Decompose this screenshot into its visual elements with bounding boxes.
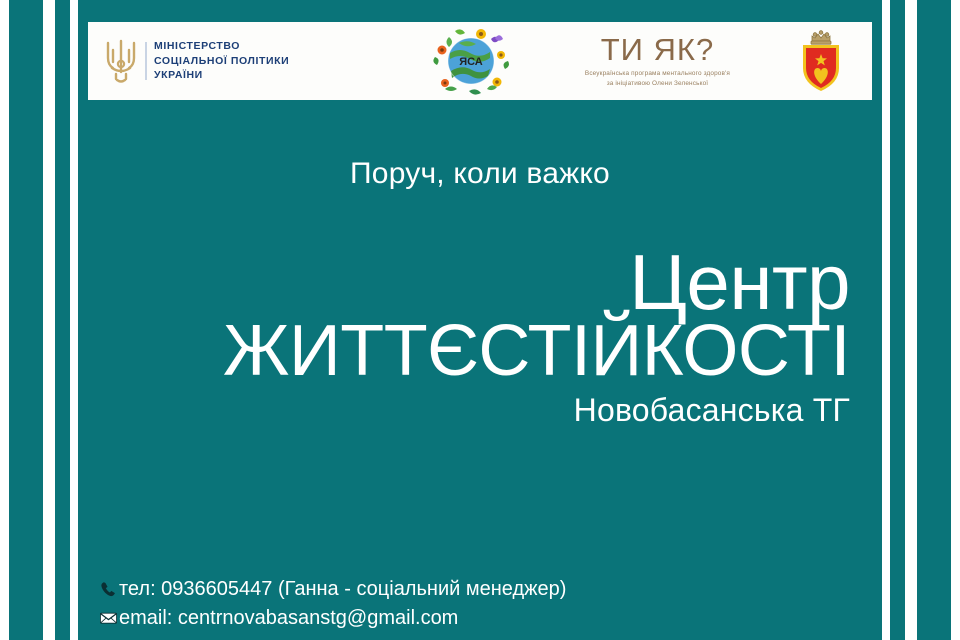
ministry-line-3: УКРАЇНИ xyxy=(154,68,289,83)
ministry-logo-text: МІНІСТЕРСТВО СОЦІАЛЬНОЇ ПОЛІТИКИ УКРАЇНИ xyxy=(154,39,289,84)
contact-row-email: email: centrnovabasanstg@gmail.com xyxy=(98,604,566,632)
ministry-line-1: МІНІСТЕРСТВО xyxy=(154,39,289,54)
hero-title-line-2: ЖИТТЄСТІЙКОСТІ xyxy=(130,315,850,387)
email-icon xyxy=(98,608,118,628)
coat-of-arms-logo xyxy=(770,22,872,100)
phone-icon xyxy=(98,579,118,599)
ty-yak-wordmark: ТИ ЯК? xyxy=(585,34,730,65)
contact-email-text: email: centrnovabasanstg@gmail.com xyxy=(119,604,458,632)
ministry-logo: МІНІСТЕРСТВО СОЦІАЛЬНОЇ ПОЛІТИКИ УКРАЇНИ xyxy=(88,22,398,100)
tryzub-icon xyxy=(104,38,138,84)
partner-logo-bar: МІНІСТЕРСТВО СОЦІАЛЬНОЇ ПОЛІТИКИ УКРАЇНИ xyxy=(88,22,872,100)
decor-stripe-right-2 xyxy=(890,0,905,640)
yasa-globe-logo-icon: ЯСА xyxy=(429,25,513,97)
ty-yak-question-mark: ? xyxy=(696,32,714,67)
ty-yak-logo: ТИ ЯК? Всеукраїнська програма ментальног… xyxy=(545,22,770,100)
decor-stripe-left-3 xyxy=(78,0,88,640)
ministry-line-2: СОЦІАЛЬНОЇ ПОЛІТИКИ xyxy=(154,54,289,69)
contact-row-phone: тел: 0936605447 (Ганна - соціальний мене… xyxy=(98,575,566,603)
decor-stripe-right-1 xyxy=(872,0,882,640)
hero-title-block: Центр ЖИТТЄСТІЙКОСТІ Новобасанська ТГ xyxy=(130,245,850,428)
poster-canvas: МІНІСТЕРСТВО СОЦІАЛЬНОЇ ПОЛІТИКИ УКРАЇНИ xyxy=(0,0,960,640)
ty-yak-subtitle-line-1: Всеукраїнська програма ментального здоро… xyxy=(585,69,730,79)
hero-tagline: Поруч, коли важко xyxy=(88,157,872,191)
ty-yak-subtitle: Всеукраїнська програма ментального здоро… xyxy=(585,69,730,88)
ty-yak-title: ТИ ЯК xyxy=(601,32,696,67)
contact-phone-text: тел: 0936605447 (Ганна - соціальний мене… xyxy=(119,575,566,603)
hero-subtitle: Новобасанська ТГ xyxy=(130,393,850,428)
decor-stripe-left-1 xyxy=(9,0,43,640)
ministry-logo-divider xyxy=(145,42,147,80)
coat-of-arms-icon xyxy=(794,28,848,94)
contact-block: тел: 0936605447 (Ганна - соціальний мене… xyxy=(98,575,566,632)
yasa-label: ЯСА xyxy=(460,56,484,68)
yasa-logo: ЯСА xyxy=(398,22,545,100)
ty-yak-subtitle-line-2: за ініціативою Олени Зеленської xyxy=(585,79,730,89)
decor-stripe-left-2 xyxy=(55,0,70,640)
decor-stripe-right-3 xyxy=(917,0,951,640)
hero-title-line-1: Центр xyxy=(130,245,850,319)
